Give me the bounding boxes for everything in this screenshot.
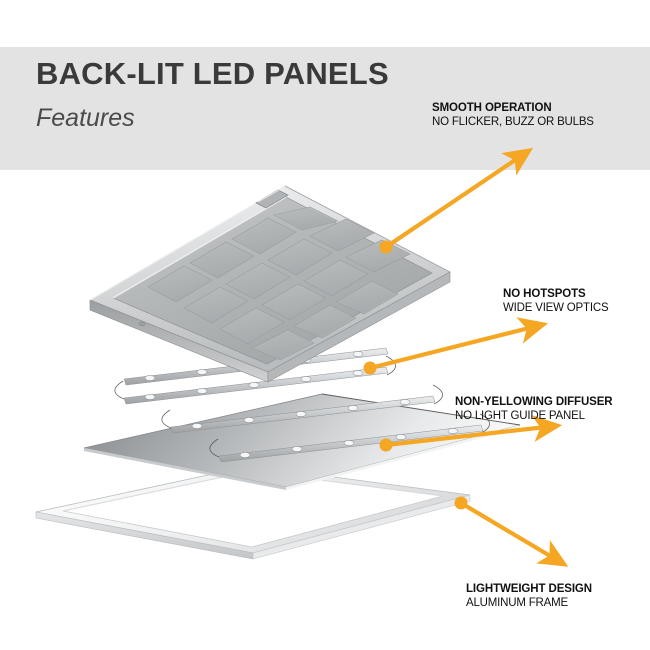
arrow-dot-no-hotspots bbox=[364, 362, 377, 375]
callout-title: NO HOTSPOTS bbox=[503, 287, 608, 301]
arrow-dot-lightweight-design bbox=[455, 497, 468, 510]
callout-title: LIGHTWEIGHT DESIGN bbox=[466, 582, 592, 596]
arrow-dot-smooth-operation bbox=[380, 241, 393, 254]
arrow-no-hotspots bbox=[370, 325, 541, 368]
callout-no-hotspots: NO HOTSPOTS WIDE VIEW OPTICS bbox=[503, 287, 608, 315]
callout-smooth-operation: SMOOTH OPERATION NO FLICKER, BUZZ OR BUL… bbox=[432, 101, 594, 129]
arrow-lightweight-design bbox=[461, 503, 562, 563]
callout-title: SMOOTH OPERATION bbox=[432, 101, 594, 115]
infographic-page: BACK-LIT LED PANELS Features bbox=[0, 0, 650, 650]
screw-hole bbox=[139, 322, 145, 326]
callout-subtitle: ALUMINUM FRAME bbox=[466, 596, 592, 610]
layer-back-housing bbox=[90, 186, 450, 382]
product-illustration bbox=[0, 0, 650, 650]
callout-subtitle: NO FLICKER, BUZZ OR BULBS bbox=[432, 115, 594, 129]
arrow-dot-non-yellowing-diffuser bbox=[380, 439, 393, 452]
callout-lightweight-design: LIGHTWEIGHT DESIGN ALUMINUM FRAME bbox=[466, 582, 592, 610]
arrow-smooth-operation bbox=[386, 152, 527, 247]
callout-non-yellowing-diffuser: NON-YELLOWING DIFFUSER NO LIGHT GUIDE PA… bbox=[455, 395, 613, 423]
callout-subtitle: NO LIGHT GUIDE PANEL bbox=[455, 409, 613, 423]
callout-title: NON-YELLOWING DIFFUSER bbox=[455, 395, 613, 409]
callout-subtitle: WIDE VIEW OPTICS bbox=[503, 301, 608, 315]
